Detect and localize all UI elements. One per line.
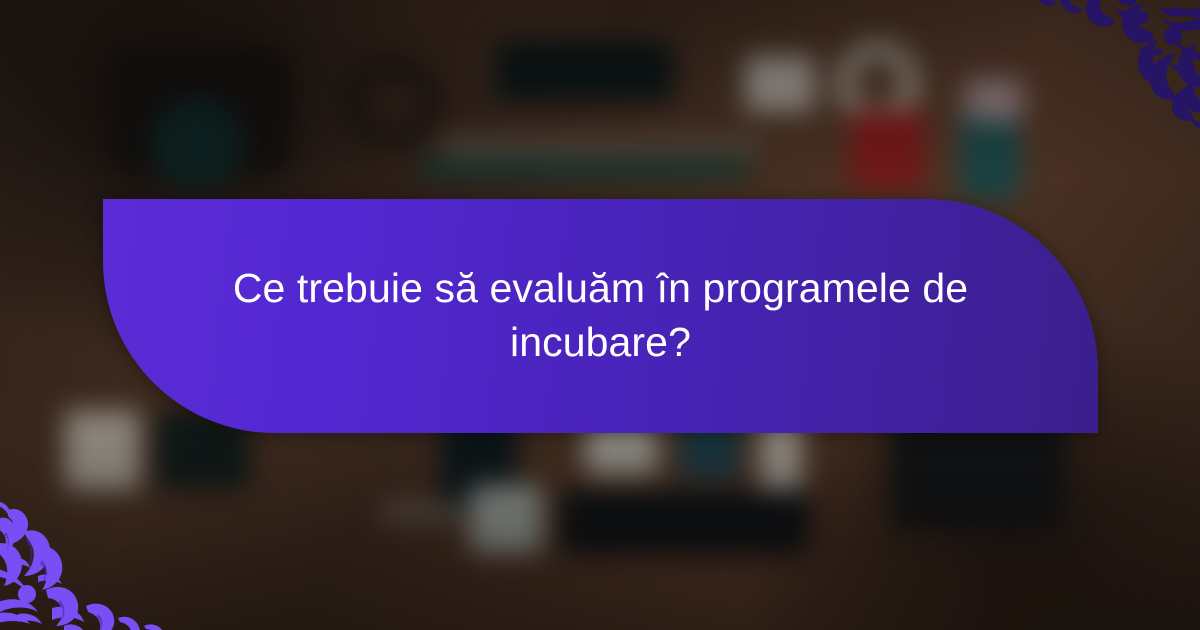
social-share-card: Ce trebuie să evaluăm în programele de i…	[0, 0, 1200, 630]
floral-damask-corner-icon	[0, 502, 172, 630]
page-title: Ce trebuie să evaluăm în programele de i…	[221, 261, 981, 371]
title-banner: Ce trebuie să evaluăm în programele de i…	[103, 199, 1098, 433]
floral-damask-corner-icon	[1028, 0, 1200, 128]
